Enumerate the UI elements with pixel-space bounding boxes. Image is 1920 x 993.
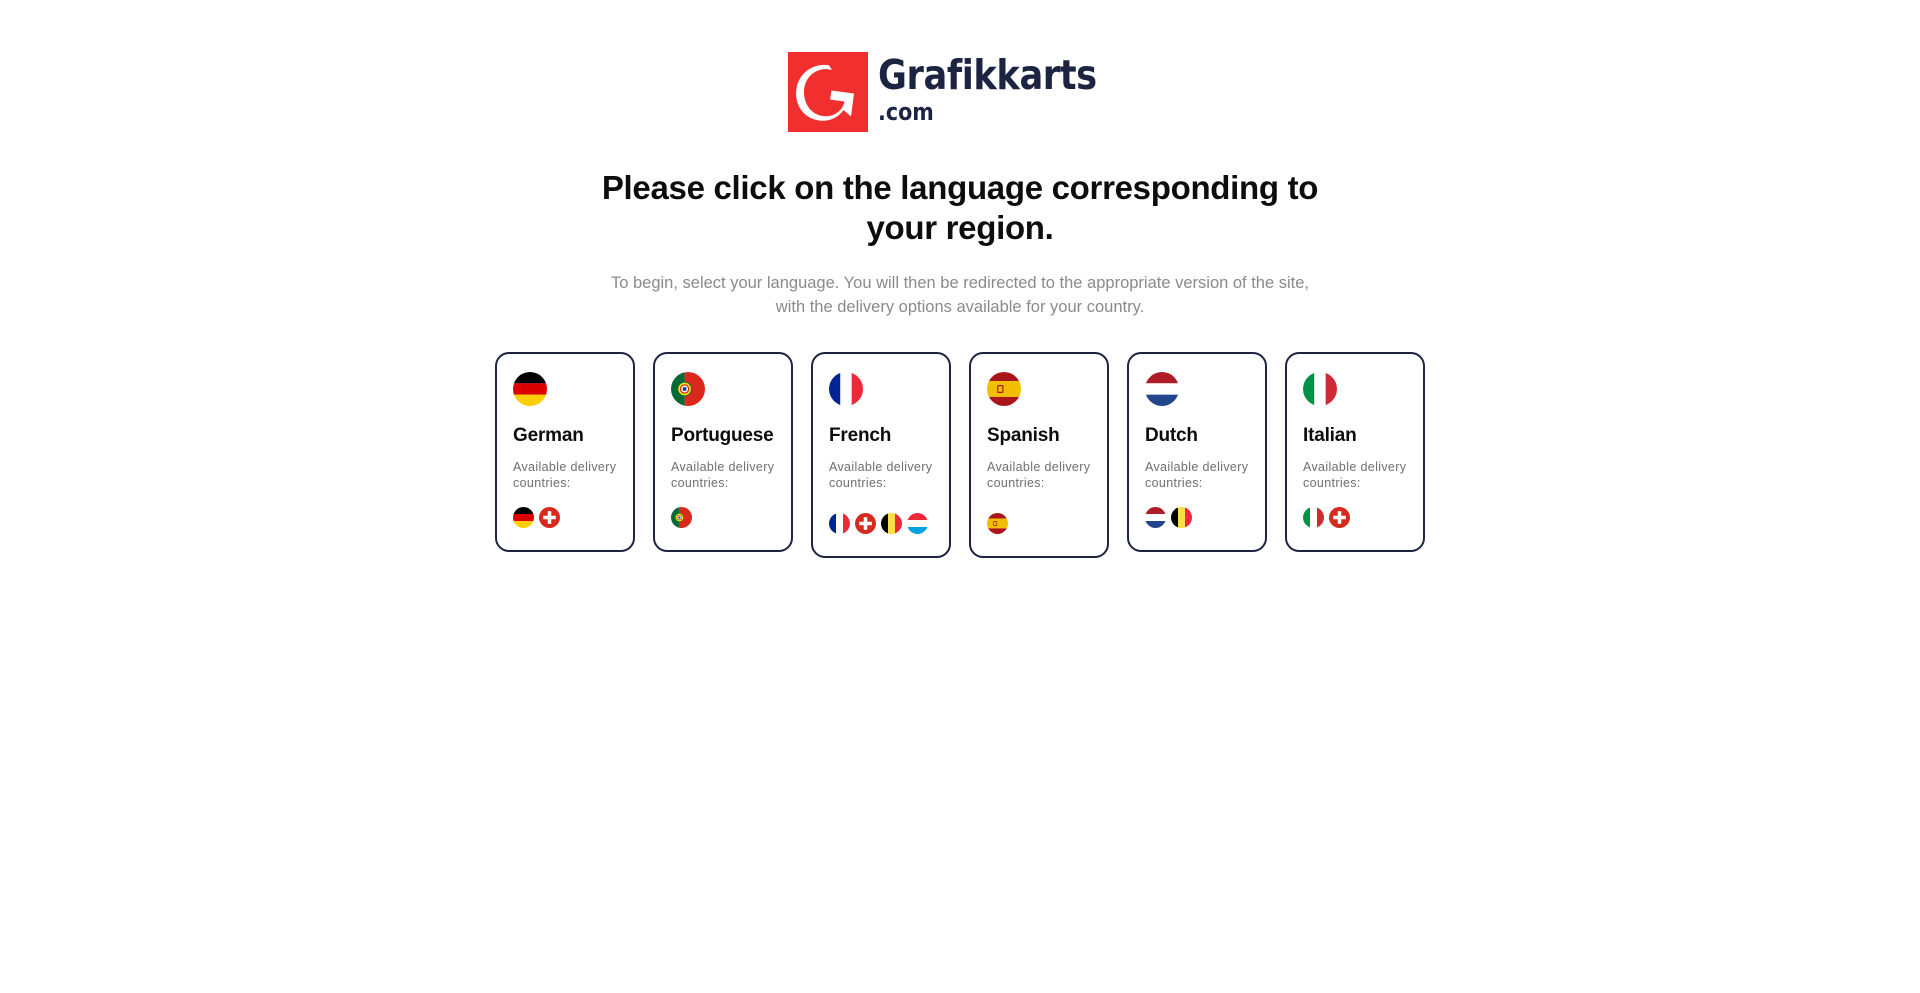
delivery-countries-label: Available delivery countries: bbox=[513, 459, 617, 491]
delivery-country-flags bbox=[513, 507, 617, 528]
delivery-countries-label: Available delivery countries: bbox=[1303, 459, 1407, 491]
logo-wordmark: Grafikkarts .com bbox=[878, 55, 1132, 128]
delivery-countries-label: Available delivery countries: bbox=[829, 459, 933, 491]
flag-italy-icon bbox=[1303, 507, 1324, 528]
site-logo[interactable]: Grafikkarts .com bbox=[788, 52, 1132, 132]
flag-belgium-icon bbox=[881, 513, 902, 534]
flag-netherlands-icon bbox=[1145, 507, 1166, 528]
delivery-country-flags bbox=[987, 513, 1091, 534]
language-card-spanish[interactable]: Spanish Available delivery countries: bbox=[969, 352, 1109, 558]
page-subtitle: To begin, select your language. You will… bbox=[595, 271, 1325, 321]
flag-italy-icon bbox=[1303, 372, 1337, 406]
language-name: German bbox=[513, 426, 617, 447]
delivery-countries-label: Available delivery countries: bbox=[987, 459, 1091, 491]
delivery-country-flags bbox=[829, 513, 933, 534]
flag-france-icon bbox=[829, 513, 850, 534]
flag-switzerland-icon bbox=[855, 513, 876, 534]
language-name: Italian bbox=[1303, 426, 1407, 447]
language-card-german[interactable]: German Available delivery countries: bbox=[495, 352, 635, 552]
language-name: Dutch bbox=[1145, 426, 1249, 447]
flag-france-icon bbox=[829, 372, 863, 406]
logo-brand-name: Grafikkarts bbox=[878, 55, 1097, 97]
flag-switzerland-icon bbox=[539, 507, 560, 528]
logo-tld: .com bbox=[878, 99, 1097, 127]
language-card-dutch[interactable]: Dutch Available delivery countries: bbox=[1127, 352, 1267, 552]
language-card-portuguese[interactable]: Portuguese Available delivery countries: bbox=[653, 352, 793, 552]
language-card-italian[interactable]: Italian Available delivery countries: bbox=[1285, 352, 1425, 552]
flag-portugal-icon bbox=[671, 372, 705, 406]
flag-luxembourg-icon bbox=[907, 513, 928, 534]
language-name: Spanish bbox=[987, 426, 1091, 447]
flag-spain-icon bbox=[987, 372, 1021, 406]
delivery-countries-label: Available delivery countries: bbox=[671, 459, 775, 491]
page-title: Please click on the language correspondi… bbox=[580, 168, 1340, 249]
delivery-country-flags bbox=[1145, 507, 1249, 528]
flag-belgium-icon bbox=[1171, 507, 1192, 528]
language-name: Portuguese bbox=[671, 426, 775, 447]
flag-spain-icon bbox=[987, 513, 1008, 534]
language-card-french[interactable]: French Available delivery countries: bbox=[811, 352, 951, 558]
delivery-countries-label: Available delivery countries: bbox=[1145, 459, 1249, 491]
flag-switzerland-icon bbox=[1329, 507, 1350, 528]
flag-netherlands-icon bbox=[1145, 372, 1179, 406]
grafikkarts-g-logo-icon bbox=[788, 52, 868, 132]
language-selector-page: Grafikkarts .com Please click on the lan… bbox=[0, 0, 1920, 993]
flag-germany-icon bbox=[513, 507, 534, 528]
flag-portugal-icon bbox=[671, 507, 692, 528]
language-name: French bbox=[829, 426, 933, 447]
flag-germany-icon bbox=[513, 372, 547, 406]
language-card-list: German Available delivery countries: Por… bbox=[495, 352, 1425, 558]
delivery-country-flags bbox=[1303, 507, 1407, 528]
delivery-country-flags bbox=[671, 507, 775, 528]
